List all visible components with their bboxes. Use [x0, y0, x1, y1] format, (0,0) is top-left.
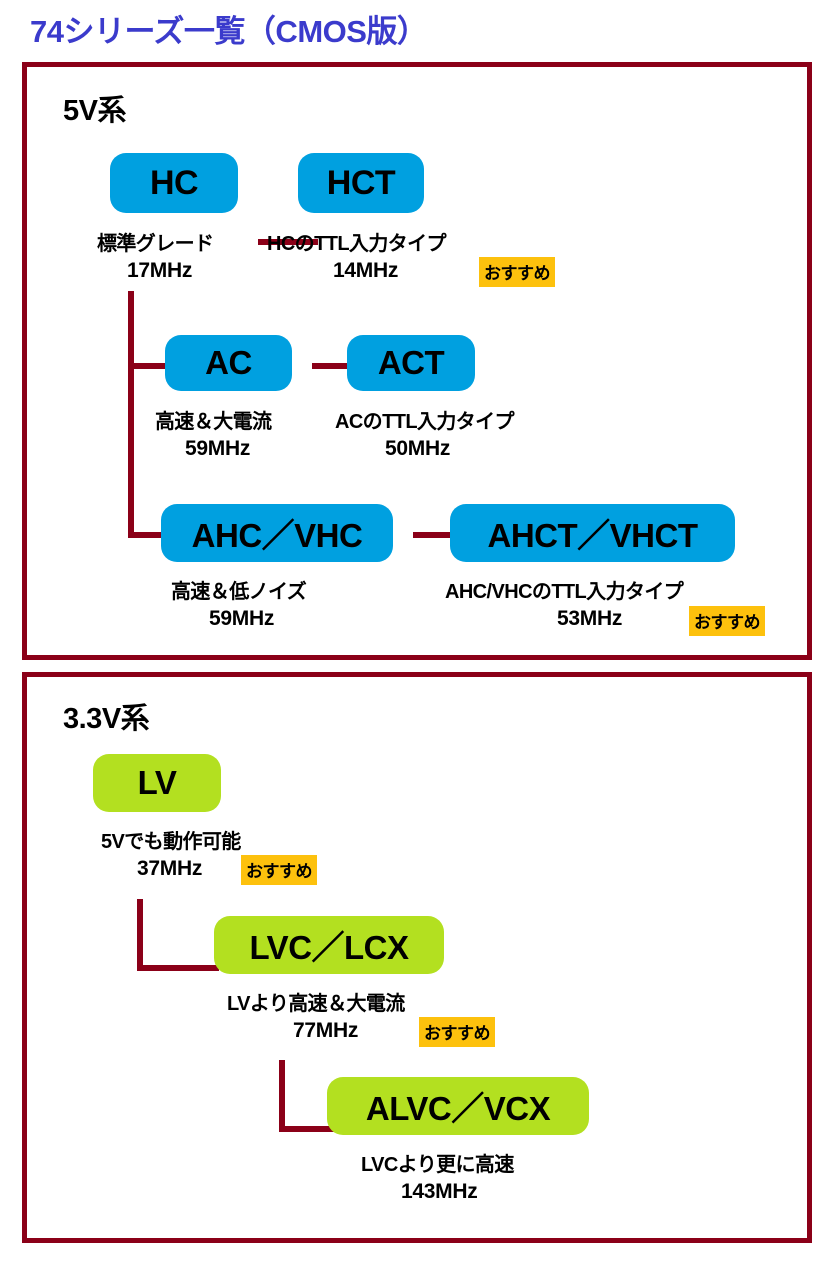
connector-trunk-lv [137, 899, 143, 971]
desc-ac: 高速＆大電流 [155, 405, 271, 434]
node-ac[interactable]: AC [165, 335, 292, 391]
freq-alvc-vcx: 143MHz [401, 1180, 477, 1204]
section-title-5v: 5V系 [63, 87, 126, 129]
node-act-label: ACT [378, 344, 444, 382]
section-3-3v-family: 3.3V系 LV 5Vでも動作可能 37MHz おすすめ LVC／LCX LVよ… [22, 672, 812, 1243]
badge-lv: おすすめ [241, 855, 317, 885]
node-ahct-vhct-label: AHCT／VHCT [488, 509, 698, 557]
node-hct-label: HCT [327, 164, 395, 203]
node-hc-label: HC [150, 164, 198, 203]
node-hct[interactable]: HCT [298, 153, 424, 213]
desc-ahc-vhc: 高速＆低ノイズ [171, 575, 306, 604]
node-alvc-vcx-label: ALVC／VCX [366, 1082, 550, 1130]
node-alvc-vcx[interactable]: ALVC／VCX [327, 1077, 589, 1135]
freq-lv: 37MHz [137, 857, 202, 881]
freq-ahc-vhc: 59MHz [209, 607, 274, 631]
desc-hct: HCのTTL入力タイプ [267, 227, 446, 256]
desc-lvc-lcx: LVより高速＆大電流 [227, 987, 405, 1016]
connector-branch-lvclcx [137, 965, 219, 971]
node-ahct-vhct[interactable]: AHCT／VHCT [450, 504, 735, 562]
node-lv[interactable]: LV [93, 754, 221, 812]
node-ahc-vhc[interactable]: AHC／VHC [161, 504, 393, 562]
badge-lvc-lcx: おすすめ [419, 1017, 495, 1047]
freq-lvc-lcx: 77MHz [293, 1019, 358, 1043]
freq-hc: 17MHz [127, 259, 192, 283]
node-act[interactable]: ACT [347, 335, 475, 391]
desc-ahct-vhct: AHC/VHCのTTL入力タイプ [445, 575, 683, 604]
section-5v-family: 5V系 HC 標準グレード 17MHz HCT HCのTTL入力タイプ 14MH… [22, 62, 812, 660]
desc-act: ACのTTL入力タイプ [335, 405, 514, 434]
page-title: 74シリーズ一覧（CMOS版） [30, 6, 427, 51]
node-ac-label: AC [205, 344, 252, 382]
desc-alvc-vcx: LVCより更に高速 [361, 1148, 514, 1177]
desc-lv: 5Vでも動作可能 [101, 825, 241, 854]
badge-hct: おすすめ [479, 257, 555, 287]
node-lvc-lcx[interactable]: LVC／LCX [214, 916, 444, 974]
node-lv-label: LV [138, 764, 177, 802]
node-lvc-lcx-label: LVC／LCX [249, 921, 408, 969]
freq-act: 50MHz [385, 437, 450, 461]
connector-trunk-hc [128, 291, 134, 538]
desc-hc: 標準グレード [97, 227, 213, 256]
badge-ahct-vhct: おすすめ [689, 606, 765, 636]
freq-ahct-vhct: 53MHz [557, 607, 622, 631]
freq-ac: 59MHz [185, 437, 250, 461]
freq-hct: 14MHz [333, 259, 398, 283]
connector-trunk-lvclcx [279, 1060, 285, 1132]
node-hc[interactable]: HC [110, 153, 238, 213]
section-title-3-3v: 3.3V系 [63, 695, 149, 737]
node-ahc-vhc-label: AHC／VHC [192, 509, 363, 557]
